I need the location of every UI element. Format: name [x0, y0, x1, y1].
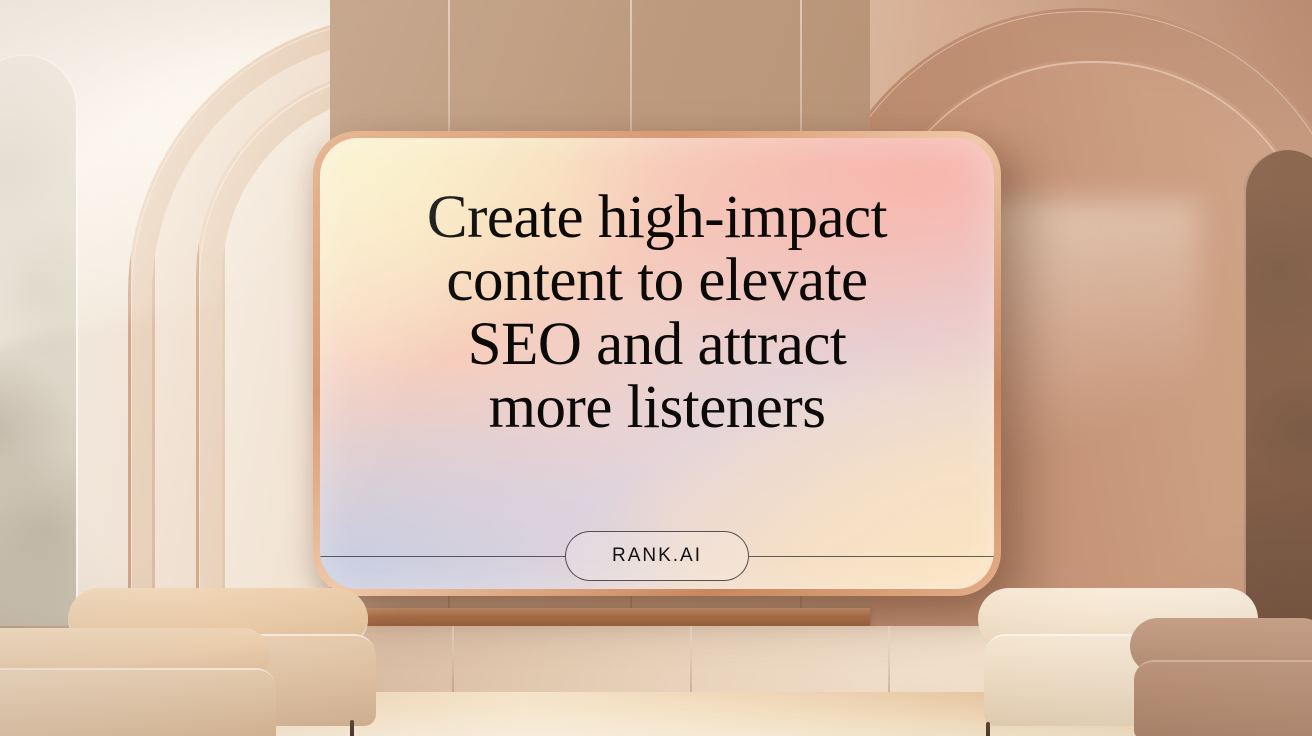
divider-line-right	[749, 556, 994, 557]
brand-divider-row: RANK.AI	[320, 531, 994, 581]
armchair-left-near	[0, 628, 290, 736]
headline-line-3: SEO and attract	[427, 313, 887, 376]
headline-line-2: content to elevate	[427, 249, 887, 312]
chair-seat	[0, 668, 276, 736]
headline-line-4: more listeners	[427, 376, 887, 439]
chair-leg	[986, 722, 990, 736]
display-screen[interactable]: Create high-impact content to elevate SE…	[320, 138, 994, 589]
armchair-right-mauve	[1130, 618, 1312, 736]
room-scene: Create high-impact content to elevate SE…	[0, 0, 1312, 736]
chair-seat	[1134, 660, 1312, 736]
chair-leg	[350, 720, 354, 736]
divider-line-left	[320, 556, 565, 557]
wainscot-seam-1	[452, 626, 454, 692]
headline: Create high-impact content to elevate SE…	[427, 186, 887, 440]
wainscot-seam-2	[690, 626, 692, 692]
headline-line-1: Create high-impact	[427, 186, 887, 249]
wainscot-seam-3	[888, 626, 890, 692]
brand-pill[interactable]: RANK.AI	[565, 531, 749, 581]
screen-content: Create high-impact content to elevate SE…	[320, 138, 994, 589]
display-frame: Create high-impact content to elevate SE…	[313, 131, 1001, 596]
